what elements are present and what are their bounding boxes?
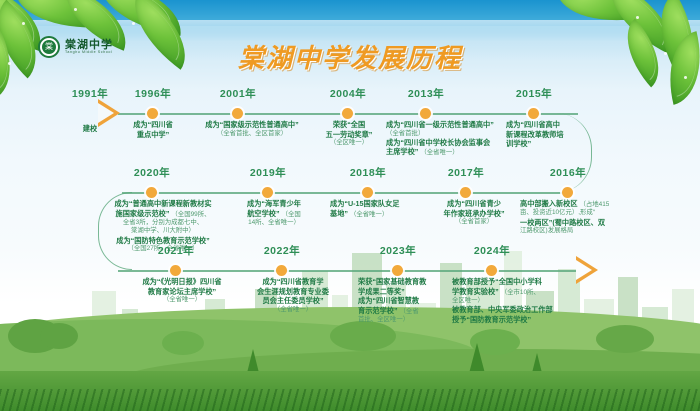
event-line: 荣获“国家基础教育教 (358, 277, 460, 287)
timeline-node-2015[interactable] (528, 108, 539, 119)
timeline-node-2004[interactable] (342, 108, 353, 119)
event-line-inline: 高中部搬入新校区 （占地415 (520, 199, 632, 209)
event-line-inline: 主席学校” （全省唯一） (386, 147, 502, 157)
event-line: 基地” (330, 209, 348, 218)
event-line: 成为“四川省中学校长协会监事会 (386, 138, 502, 148)
timeline-node-2001[interactable] (232, 108, 243, 119)
event-note: （全国99所、 (171, 211, 210, 218)
year-label-2015: 2015年 (508, 86, 560, 101)
year-label-2016: 2016年 (542, 165, 594, 180)
event-line: 高中部搬入新校区 (520, 199, 578, 208)
event-note: （全国 (282, 211, 301, 218)
event-line: 学教育实验校” (452, 287, 499, 296)
event-line: 一校两区”(蜀中路校区、双 (520, 218, 632, 228)
year-label-2018: 2018年 (342, 165, 394, 180)
tree-blob (40, 323, 78, 349)
event-note: 全区唯一） (452, 297, 576, 305)
event-text-1991: 建校 (62, 124, 118, 134)
timeline-node-2024[interactable] (486, 265, 497, 276)
dew-drop (684, 76, 687, 79)
event-line: 学成果二等奖” (358, 287, 460, 297)
event-line: 施国家级示范校” (116, 209, 170, 218)
event-text-2022: 成为“四川省教育学 会生涯规划教育专业委 员会主任委员学校” （全省唯一） (240, 277, 346, 314)
page-title: 棠湖中学发展历程 (0, 38, 700, 75)
year-label-2021: 2021年 (150, 243, 202, 258)
event-text-2023: 荣获“国家基础教育教 学成果二等奖” 成为“四川省智慧教 育示范学校” （全省 … (358, 277, 460, 324)
year-label-2013: 2013年 (400, 86, 452, 101)
timeline-rail-row3 (118, 270, 588, 272)
event-line: 成为“普通高中新课程新教材实 (100, 199, 226, 209)
event-note: （全省唯一） (126, 296, 238, 304)
year-label-2019: 2019年 (242, 165, 294, 180)
poster-canvas: 棠 棠湖中学 Tanghu Middle School 棠湖中学发展历程 199… (0, 0, 700, 411)
event-note: （全市10所、 (501, 289, 540, 296)
year-label-1991: 1991年 (64, 86, 116, 101)
tree-blob (162, 331, 204, 355)
event-line-inline: 施国家级示范校” （全国99所、 (100, 209, 226, 219)
tree-blob (596, 325, 654, 353)
year-label-2020: 2020年 (126, 165, 178, 180)
tree-blob (330, 321, 396, 351)
event-note: 14所、全省唯一） (228, 219, 320, 227)
event-note: （全省唯一） (240, 306, 346, 314)
event-text-2004: 荣获“全国 五一劳动奖章” （全区唯一） (316, 120, 382, 147)
dew-drop (636, 16, 639, 19)
year-label-2001: 2001年 (212, 86, 264, 101)
timeline-rail-row2 (122, 192, 572, 194)
event-line: 被教育部、中央军委政治工作部 (452, 305, 576, 315)
year-label-2017: 2017年 (440, 165, 492, 180)
event-line: 成为“四川省教育学 (240, 277, 346, 287)
event-note: （全省首家） (428, 218, 520, 226)
event-line: 五一劳动奖章” (316, 130, 382, 140)
dew-drop (74, 8, 77, 11)
event-line: 成为“四川省高中 (506, 120, 582, 130)
event-text-2015: 成为“四川省高中 新课程改革教师培 训学校” (506, 120, 582, 149)
year-label-2022: 2022年 (256, 243, 308, 258)
event-line: 建校 (62, 124, 118, 134)
event-line: 被教育部授予“全国中小学科 (452, 277, 576, 287)
timeline-node-2016[interactable] (562, 187, 573, 198)
event-line: 成为“U-15国家队女足 (330, 199, 434, 209)
event-line-inline: 育示范学校” （全省 (358, 306, 460, 316)
event-text-2001: 成为“国家级示范性普通高中” （全省首批、全区首家） (196, 120, 308, 138)
timeline-node-1996[interactable] (147, 108, 158, 119)
event-text-2017: 成为“四川省青少 年作家班承办学校” （全省首家） (428, 199, 520, 226)
event-text-1996: 成为“四川省 重点中学” (120, 120, 186, 139)
event-line: 成为“国家级示范性普通高中” (196, 120, 308, 130)
year-label-2023: 2023年 (372, 243, 424, 258)
timeline-arrow-notch (98, 103, 114, 123)
event-line: 航空学校” (247, 209, 279, 218)
event-line: 育示范学校” (358, 306, 398, 315)
timeline-node-2021[interactable] (170, 265, 181, 276)
event-note: （全省 (400, 308, 419, 315)
event-note: 江路校区)发展格局 (520, 227, 632, 235)
event-note: （全省唯一） (420, 149, 458, 156)
event-line: 授予“国防教育示范学校” (452, 315, 576, 325)
timeline-node-2018[interactable] (362, 187, 373, 198)
event-line: 新课程改革教师培 (506, 130, 582, 140)
event-line: 年作家班承办学校” (428, 209, 520, 219)
event-text-2016: 高中部搬入新校区 （占地415 亩、投资近10亿元）,形成“ 一校两区”(蜀中路… (520, 199, 632, 236)
event-text-2021: 成为“《光明日报》四川省 教育家论坛主席学校” （全省唯一） (126, 277, 238, 304)
timeline-node-2020[interactable] (146, 187, 157, 198)
event-line: 成为“《光明日报》四川省 (126, 277, 238, 287)
dew-drop (22, 22, 25, 25)
timeline-node-2017[interactable] (460, 187, 471, 198)
event-line: 重点中学” (120, 130, 186, 140)
dew-drop (132, 22, 135, 25)
year-label-1996: 1996年 (127, 86, 179, 101)
timeline-node-2022[interactable] (276, 265, 287, 276)
timeline-arrow-end-notch (576, 260, 592, 280)
event-note: 棠湖中学、川大附中） (100, 227, 226, 235)
event-text-2018: 成为“U-15国家队女足 基地” （全省唯一） (330, 199, 434, 219)
event-line: 成为“四川省一级示范性普通高中” (386, 120, 502, 130)
event-text-2024: 被教育部授予“全国中小学科 学教育实验校” （全市10所、 全区唯一） 被教育部… (452, 277, 576, 324)
event-line: 员会主任委员学校” (240, 296, 346, 306)
timeline-node-2023[interactable] (392, 265, 403, 276)
timeline-node-2019[interactable] (262, 187, 273, 198)
event-line-inline: 航空学校” （全国 (228, 209, 320, 219)
event-note: （全省唯一） (350, 211, 388, 218)
event-note: （全省首批、全区首家） (196, 130, 308, 138)
event-line-inline: 基地” （全省唯一） (330, 209, 434, 219)
event-line: 成为“四川省智慧教 (358, 296, 460, 306)
event-line: 教育家论坛主席学校” (126, 287, 238, 297)
event-line: 训学校” (506, 139, 582, 149)
event-line-inline: 学教育实验校” （全市10所、 (452, 287, 576, 297)
event-note: 亩、投资近10亿元）,形成“ (520, 209, 632, 217)
timeline-node-2013[interactable] (420, 108, 431, 119)
event-line: 荣获“全国 (316, 120, 382, 130)
event-note: （全省首批） (386, 130, 502, 138)
event-text-2019: 成为“海军青少年 航空学校” （全国 14所、全省唯一） (228, 199, 320, 227)
year-label-2004: 2004年 (322, 86, 374, 101)
grass-texture (0, 389, 700, 411)
event-note: 首批、全区唯一） (358, 316, 460, 324)
event-text-2013: 成为“四川省一级示范性普通高中” （全省首批） 成为“四川省中学校长协会监事会 … (386, 120, 502, 158)
event-note: （占地415 (580, 201, 610, 208)
event-note: （全区唯一） (316, 139, 382, 147)
event-line: 会生涯规划教育专业委 (240, 287, 346, 297)
event-line: 主席学校” (386, 147, 418, 156)
event-line: 成为“四川省 (120, 120, 186, 130)
event-line: 成为“海军青少年 (228, 199, 320, 209)
event-line: 成为“四川省青少 (428, 199, 520, 209)
year-label-2024: 2024年 (466, 243, 518, 258)
